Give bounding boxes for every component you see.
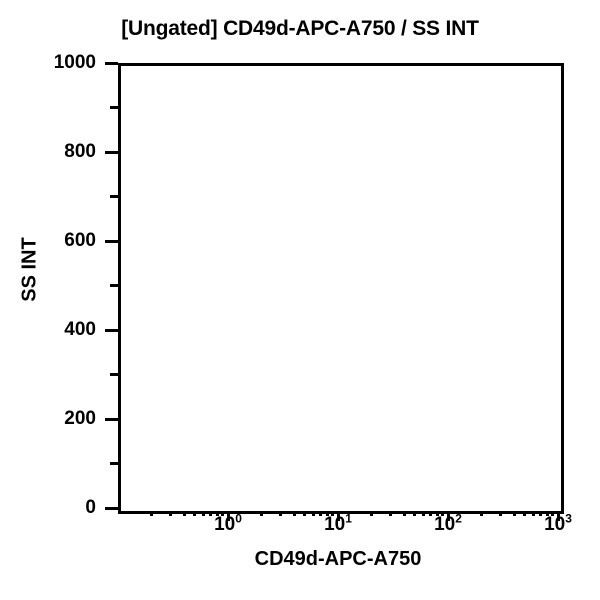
plot-frame	[118, 63, 564, 514]
x-tick-label: 103	[544, 514, 572, 536]
x-tick-label: 100	[214, 514, 242, 536]
x-axis-label: CD49d-APC-A750	[118, 548, 558, 571]
x-tick-label: 101	[324, 514, 352, 536]
flow-cytometry-plot: [Ungated] CD49d-APC-A750 / SS INT SS INT…	[0, 0, 600, 600]
x-tick-label: 102	[434, 514, 462, 536]
